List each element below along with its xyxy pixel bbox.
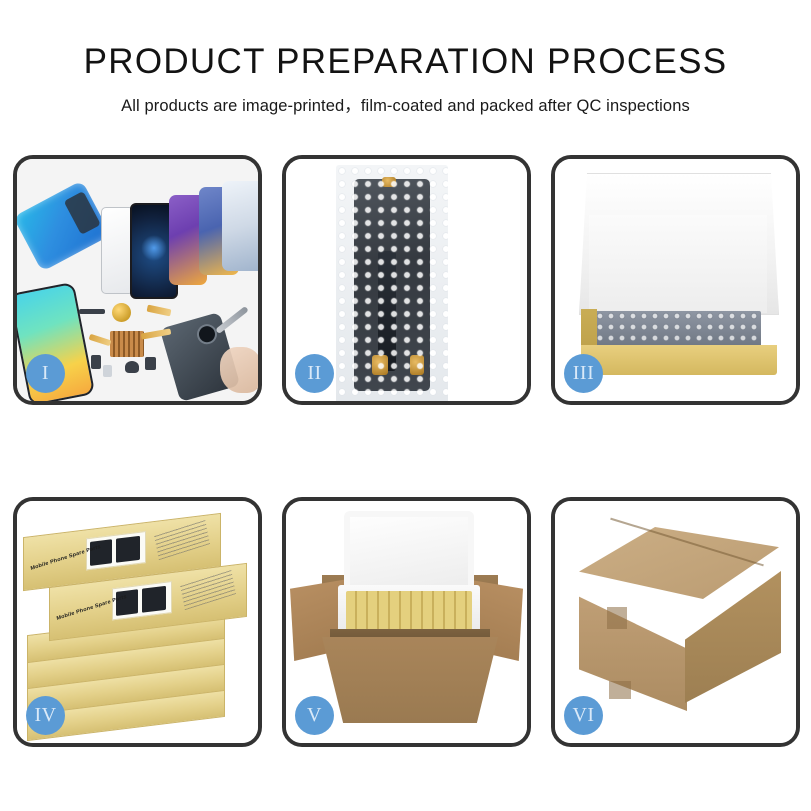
step-badge-5: V xyxy=(295,696,334,735)
foam-lid-icon xyxy=(344,511,474,591)
step-panel-5: V xyxy=(282,497,531,747)
camera-lens-icon xyxy=(195,322,220,347)
step-badge-3: III xyxy=(564,354,603,393)
kraft-box-front-icon xyxy=(581,345,777,375)
process-steps-grid: I II III xyxy=(13,155,800,747)
step-badge-4: IV xyxy=(26,696,65,735)
gold-connector-icon xyxy=(372,355,388,375)
box-artwork-screen-icon xyxy=(116,536,140,563)
step-panel-6: VI xyxy=(551,497,800,747)
white-phone-screen-icon xyxy=(222,181,258,271)
box-spec-lines xyxy=(180,569,236,610)
flex-cable-icon xyxy=(147,305,172,317)
flex-cable-icon xyxy=(89,334,112,347)
carton-front-icon xyxy=(322,637,498,723)
product-preparation-process-infographic: PRODUCT PREPARATION PROCESS All products… xyxy=(0,0,811,811)
step-badge-2: II xyxy=(295,354,334,393)
gold-connector-icon xyxy=(410,355,424,375)
carton-tape-icon xyxy=(609,681,631,699)
small-part-icon xyxy=(79,309,105,314)
small-part-icon xyxy=(103,365,112,377)
small-part-icon xyxy=(145,357,156,370)
step-badge-6: VI xyxy=(564,696,603,735)
gold-connector-icon xyxy=(382,177,396,187)
flex-cable-icon xyxy=(378,251,396,371)
page-subtitle: All products are image-printed，film-coat… xyxy=(0,92,811,116)
step-panel-4: Mobile Phone Spare Parts Mobile Phone Sp… xyxy=(13,497,262,747)
box-artwork-screen-icon xyxy=(142,586,166,613)
hand-icon xyxy=(220,347,258,393)
box-artwork-screen-icon xyxy=(116,589,138,616)
step-badge-1: I xyxy=(26,354,65,393)
chip-grid-part-icon xyxy=(110,331,144,357)
step-panel-3: III xyxy=(551,155,800,405)
step-panel-2: II xyxy=(282,155,531,405)
page-title: PRODUCT PREPARATION PROCESS xyxy=(0,44,811,81)
bubble-wrapped-contents-icon xyxy=(595,311,761,347)
carton-left-face-icon xyxy=(579,581,687,711)
small-part-icon xyxy=(125,361,139,373)
gold-coil-part-icon xyxy=(112,303,131,322)
header: PRODUCT PREPARATION PROCESS All products… xyxy=(0,0,811,116)
box-spec-lines xyxy=(154,519,210,560)
carton-tape-icon xyxy=(607,607,627,629)
foam-insert-icon xyxy=(589,215,767,313)
blue-screen-protector-icon xyxy=(17,180,111,271)
box-artwork-screen-icon xyxy=(90,539,112,566)
small-part-icon xyxy=(91,355,101,369)
step-panel-1: I xyxy=(13,155,262,405)
